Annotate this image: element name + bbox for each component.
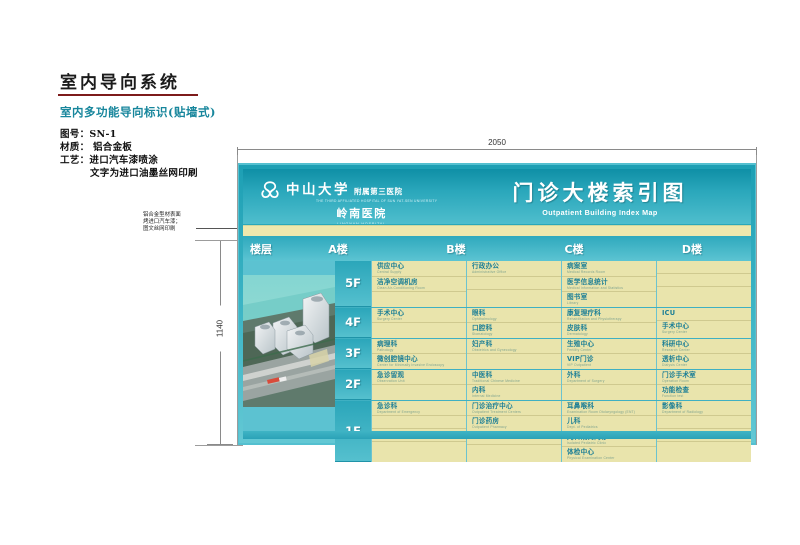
spec-line-material: 材质： 铝合金板: [60, 141, 198, 154]
spec-line-drawing-no: 图号：SN-1: [60, 128, 198, 141]
entry-cn: 供应中心: [377, 262, 462, 270]
spec-line-process-detail: 文字为进口油墨丝网印刷: [60, 167, 198, 180]
header-accent-strip: [243, 225, 751, 236]
entry-en: Department of Emergency: [377, 410, 462, 415]
cell-2f-d: 门诊手术室 Operation Room 功能检查 Function test: [656, 370, 751, 400]
column-header-row: 楼层 A楼 B楼 C楼 D楼: [243, 236, 751, 261]
entry[interactable]: 内科 Internal Medicine: [467, 385, 561, 400]
cell-2f-c: 外科 Department of Surgery: [561, 370, 656, 400]
entry-empty: [467, 277, 561, 290]
cell-4f-b: 眼科 Ophthalmology 口腔科 Stomatology: [466, 308, 561, 338]
table-row: 3F 病理科 Pathology 微创腔镜中心 Center for Minim…: [335, 339, 751, 370]
entry[interactable]: 耳鼻喉科 Examination Room Otolaryngology (EN…: [562, 401, 656, 417]
entry-empty: [372, 292, 466, 305]
dimension-width: 2050: [237, 141, 757, 163]
material-callout: 铝合金型材表面 烤进口汽车漆； 图文丝网印刷: [143, 212, 181, 233]
entry-cn: 门诊治疗中心: [472, 402, 557, 410]
entry[interactable]: 门诊药房 Outpatient Pharmacy: [467, 416, 561, 432]
entry-cn: 门诊手术室: [662, 371, 747, 379]
university-name-cn: 中山大学: [286, 178, 350, 198]
entry-en: Dialysis Center: [662, 363, 747, 368]
callout-line-2: 烤进口汽车漆；: [143, 219, 181, 226]
column-header-tower-b: B楼: [397, 241, 515, 257]
table-row: 2F 急诊留观 Observation Unit 中医科 Traditio: [335, 370, 751, 401]
entry-empty: [467, 445, 561, 458]
column-header-tower-a: A楼: [279, 241, 397, 257]
entry-cn: 生殖中心: [567, 340, 652, 348]
entry-en: Rehabilitation and Physiotherapy: [567, 317, 652, 322]
entry[interactable]: 透析中心 Dialysis Center: [657, 354, 751, 369]
entry-en: Pathology: [377, 348, 462, 353]
entry[interactable]: 影像科 Department of Radiology: [657, 401, 751, 417]
cell-3f-d: 科研中心 Research Center 透析中心 Dialysis Cente…: [656, 339, 751, 369]
cell-3f-c: 生殖中心 Fertility Center VIP门诊 VIP Outpatie…: [561, 339, 656, 369]
entry-en: Surgery Center: [377, 317, 462, 322]
entry-en: Administrative Office: [472, 270, 557, 275]
entry-cn: 眼科: [472, 309, 557, 317]
floor-label: 2F: [335, 370, 371, 400]
cell-4f-c: 康复理疗科 Rehabilitation and Physiotherapy 皮…: [561, 308, 656, 338]
callout-line-3: 图文丝网印刷: [143, 226, 181, 233]
entry-en: Isolated Pediatric Clinic: [567, 441, 652, 446]
entry-empty: [657, 261, 751, 274]
logo-chinese-line: 中山大学 附属第三医院: [286, 178, 437, 198]
hospital-name-en: LINGNAN HOSPITAL: [286, 222, 437, 224]
entry-en: Obstetrics and Gynecology: [472, 348, 557, 353]
entry-cn: ICU: [662, 309, 747, 317]
extension-line-left: [237, 155, 238, 445]
entry-cn: 功能检查: [662, 386, 747, 394]
floor-label: 4F: [335, 308, 371, 338]
title-underline: [58, 94, 198, 96]
column-header-tower-d: D楼: [633, 241, 751, 257]
sign-title-cn: 门诊大楼索引图: [475, 177, 725, 207]
entry-en: Research Center: [662, 348, 747, 353]
entry[interactable]: 供应中心 Central Supply: [372, 261, 466, 277]
entry-empty: [372, 385, 466, 398]
entry[interactable]: 门诊治疗中心 Outpatient Treatment Centers: [467, 401, 561, 417]
entry-cn: 内科: [472, 386, 557, 394]
entry-cn: 病理科: [377, 340, 462, 348]
entry[interactable]: 图书室 Library: [562, 292, 656, 307]
callout-line-1: 铝合金型材表面: [143, 212, 181, 219]
cell-2f-a: 急诊留观 Observation Unit: [371, 370, 466, 400]
entry-cn: 洁净空调机房: [377, 278, 462, 286]
entry-cn: 图书室: [567, 293, 652, 301]
entry-en: Internal Medicine: [472, 394, 557, 399]
entry-cn: 医学信息统计: [567, 278, 652, 286]
affiliate-name-cn: 附属第三医院: [354, 186, 403, 197]
entry-cn: 急诊留观: [377, 371, 462, 379]
entry-en: Outpatient Pharmacy: [472, 425, 557, 430]
entry-cn: 科研中心: [662, 340, 747, 348]
entry-en: Dermatology: [567, 332, 652, 337]
entry-cn: 耳鼻喉科: [567, 402, 652, 410]
aerial-photo-column: [243, 261, 335, 431]
entry-cn: 急诊科: [377, 402, 462, 410]
spec-block: 图号：SN-1 材质： 铝合金板 工艺：进口汽车漆喷涂 文字为进口油墨丝网印刷: [60, 128, 198, 180]
sign-bottom-band: [243, 431, 751, 439]
cell-5f-b: 行政办公 Administrative Office: [466, 261, 561, 307]
entry-en: Clean Air-Conditioning Room: [377, 286, 462, 291]
entry-cn: 体检中心: [567, 448, 652, 456]
column-header-floor: 楼层: [243, 241, 279, 257]
entry[interactable]: 行政办公 Administrative Office: [467, 261, 561, 277]
table-row: 4F 手术中心 Surgery Center 眼科 Ophthalmolo: [335, 308, 751, 339]
entry[interactable]: 微创腔镜中心 Center for Minimally Invasive End…: [372, 354, 466, 369]
entry-cn: 门诊药房: [472, 417, 557, 425]
entry[interactable]: 康复理疗科 Rehabilitation and Physiotherapy: [562, 308, 656, 324]
entry-en: Dept. of Pediatrics: [567, 425, 652, 430]
callout-leader-line: [196, 228, 238, 229]
entry[interactable]: 妇产科 Obstetrics and Gynecology: [467, 339, 561, 355]
hospital-logo: 中山大学 附属第三医院 THE THIRD AFFILIATED HOSPITA…: [259, 178, 437, 224]
entry-empty: [467, 354, 561, 367]
dimension-width-bar: [237, 149, 757, 150]
entry[interactable]: 门诊手术室 Operation Room: [657, 370, 751, 386]
entry-en: Center for Minimally Invasive Endoscopy: [377, 363, 462, 368]
entry-cn: 康复理疗科: [567, 309, 652, 317]
entry-en: Observation Unit: [377, 379, 462, 384]
entry-cn: 行政办公: [472, 262, 557, 270]
entry[interactable]: 医学信息统计 Medical Information and Statistic…: [562, 277, 656, 293]
entry-cn: 妇产科: [472, 340, 557, 348]
entry[interactable]: 中医科 Traditional Chinese Medicine: [467, 370, 561, 386]
entry[interactable]: 病案室 Medical Records Room: [562, 261, 656, 277]
entry-empty: [372, 442, 466, 455]
entry-en: Department of Surgery: [567, 379, 652, 384]
dimension-height-value: 1140: [216, 306, 225, 352]
cell-2f-b: 中医科 Traditional Chinese Medicine 内科 Inte…: [466, 370, 561, 400]
entry-cn: 口腔科: [472, 324, 557, 332]
floor-label: 5F: [335, 261, 371, 307]
cell-5f-a: 供应中心 Central Supply 洁净空调机房 Clean Air-Con…: [371, 261, 466, 307]
entry-en: Examination Room Otolaryngology (ENT): [567, 410, 652, 415]
entry-en: Stomatology: [472, 332, 557, 337]
sign-board: 中山大学 附属第三医院 THE THIRD AFFILIATED HOSPITA…: [237, 163, 757, 445]
sign-body: 5F 供应中心 Central Supply 洁净空调机房 Clean Air-…: [243, 261, 751, 431]
entry-en: VIP Outpatient: [567, 363, 652, 368]
entry[interactable]: 眼科 Ophthalmology: [467, 308, 561, 324]
sign-header: 中山大学 附属第三医院 THE THIRD AFFILIATED HOSPITA…: [243, 169, 751, 224]
entry-empty: [562, 385, 656, 398]
entry-en: Ophthalmology: [472, 317, 557, 322]
entry[interactable]: ICU: [657, 308, 751, 321]
entry-en: Physical Examination Center: [567, 456, 652, 461]
cell-3f-a: 病理科 Pathology 微创腔镜中心 Center for Minimall…: [371, 339, 466, 369]
entry-en: Medical Information and Statistics: [567, 286, 652, 291]
entry[interactable]: 科研中心 Research Center: [657, 339, 751, 355]
entry-en: Outpatient Treatment Centers: [472, 410, 557, 415]
entry-cn: 外科: [567, 371, 652, 379]
cell-3f-b: 妇产科 Obstetrics and Gynecology: [466, 339, 561, 369]
entry[interactable]: 病理科 Pathology: [372, 339, 466, 355]
entry-en: Function test: [662, 394, 747, 399]
entry-cn: 病案室: [567, 262, 652, 270]
dimension-height: 1140: [207, 240, 233, 445]
entry[interactable]: 洁净空调机房 Clean Air-Conditioning Room: [372, 277, 466, 293]
entry-cn: 儿科: [567, 417, 652, 425]
extension-line-right: [756, 155, 757, 445]
drawing-subtitle: 室内多功能导向标识(贴墙式): [60, 104, 216, 120]
entry-cn: 透析中心: [662, 355, 747, 363]
entry[interactable]: 功能检查 Function test: [657, 385, 751, 400]
entry[interactable]: 外科 Department of Surgery: [562, 370, 656, 386]
entry-cn: 手术中心: [377, 309, 462, 317]
entry[interactable]: 口腔科 Stomatology: [467, 323, 561, 338]
sign-title: 门诊大楼索引图 Outpatient Building Index Map: [475, 177, 725, 217]
entry-empty: [467, 290, 561, 303]
sign-board-inner: 中山大学 附属第三医院 THE THIRD AFFILIATED HOSPITA…: [239, 165, 755, 443]
entry-empty: [657, 274, 751, 287]
column-header-tower-c: C楼: [515, 241, 633, 257]
floor-index-table: 5F 供应中心 Central Supply 洁净空调机房 Clean Air-…: [335, 261, 751, 431]
entry-en: Surgery Center: [662, 330, 747, 335]
entry-en: Medical Records Room: [567, 270, 652, 275]
entry-cn: 影像科: [662, 402, 747, 410]
entry-empty: [372, 416, 466, 429]
cell-4f-d: ICU 手术中心 Surgery Center: [656, 308, 751, 338]
entry[interactable]: 手术中心 Surgery Center: [372, 308, 466, 324]
entry[interactable]: 急诊留观 Observation Unit: [372, 370, 466, 386]
entry-en: Operation Room: [662, 379, 747, 384]
entry-en: Central Supply: [377, 270, 462, 275]
entry-en: Fertility Center: [567, 348, 652, 353]
entry-en: Traditional Chinese Medicine: [472, 379, 557, 384]
sign-title-en: Outpatient Building Index Map: [475, 208, 725, 217]
guide-line-top: [195, 240, 243, 241]
entry[interactable]: 手术中心 Surgery Center: [657, 321, 751, 336]
cell-5f-c: 病案室 Medical Records Room 医学信息统计 Medical …: [561, 261, 656, 307]
entry[interactable]: 急诊科 Department of Emergency: [372, 401, 466, 417]
spec-line-process: 工艺：进口汽车漆喷涂: [60, 154, 198, 167]
entry[interactable]: VIP门诊 VIP Outpatient: [562, 354, 656, 369]
cell-4f-a: 手术中心 Surgery Center: [371, 308, 466, 338]
logo-text-block: 中山大学 附属第三医院 THE THIRD AFFILIATED HOSPITA…: [286, 178, 437, 224]
table-row: 5F 供应中心 Central Supply 洁净空调机房 Clean Air-…: [335, 261, 751, 308]
entry-empty: [657, 287, 751, 300]
floor-label: 3F: [335, 339, 371, 369]
entry[interactable]: 生殖中心 Fertility Center: [562, 339, 656, 355]
entry-empty: [657, 416, 751, 429]
sun-yat-sen-logo-icon: [259, 179, 281, 201]
dimension-width-value: 2050: [237, 138, 757, 147]
page-title: 室内导向系统: [60, 68, 180, 97]
entry[interactable]: 体检中心 Physical Examination Center: [562, 447, 656, 462]
cell-5f-d: [656, 261, 751, 307]
drawing-sheet: 室内导向系统 室内多功能导向标识(贴墙式) 图号：SN-1 材质： 铝合金板 工…: [0, 0, 800, 545]
entry-cn: VIP门诊: [567, 355, 652, 363]
entry-en: Department of Radiology: [662, 410, 747, 415]
entry-en: Library: [567, 301, 652, 306]
entry-cn: 中医科: [472, 371, 557, 379]
entry-cn: 微创腔镜中心: [377, 355, 462, 363]
entry[interactable]: 儿科 Dept. of Pediatrics: [562, 416, 656, 432]
entry-empty: [657, 442, 751, 455]
entry-empty: [372, 323, 466, 336]
guide-line-bottom: [195, 445, 243, 446]
entry-cn: 手术中心: [662, 322, 747, 330]
hospital-name-cn: 岭南医院: [286, 205, 437, 221]
university-name-en: THE THIRD AFFILIATED HOSPITAL OF SUN YAT…: [316, 199, 437, 203]
hospital-aerial-photo: [243, 275, 335, 407]
entry[interactable]: 皮肤科 Dermatology: [562, 323, 656, 338]
entry-cn: 皮肤科: [567, 324, 652, 332]
